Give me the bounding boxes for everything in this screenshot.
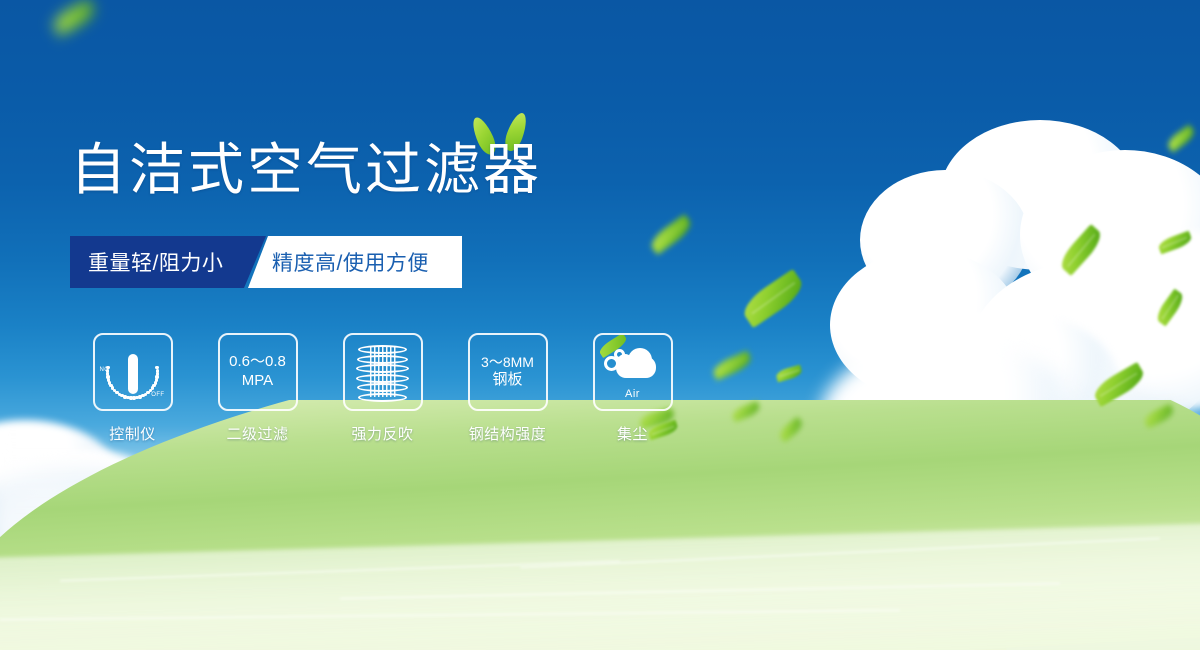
pressure-text-icon: 0.6〜0.8 MPA bbox=[218, 333, 298, 411]
steel-plate-text-icon: 3〜8MM 钢板 bbox=[468, 333, 548, 411]
page-title: 自洁式空气过滤器 bbox=[70, 142, 542, 198]
filter-coil-icon bbox=[343, 333, 423, 411]
air-cloud-icon: Air bbox=[593, 333, 673, 411]
feature-item-pressure[interactable]: 0.6〜0.8 MPA 二级过滤 bbox=[195, 333, 320, 444]
subtitle-bar: 重量轻/阻力小 精度高/使用方便 bbox=[70, 236, 462, 288]
gauge-label-off: OFF bbox=[151, 392, 164, 398]
feature-caption: 控制仪 bbox=[109, 423, 156, 444]
feature-caption: 二级过滤 bbox=[226, 423, 288, 444]
air-label: Air bbox=[602, 388, 664, 400]
subtitle-right: 精度高/使用方便 bbox=[248, 236, 462, 288]
feature-item-controller[interactable]: NO OFF 控制仪 bbox=[70, 333, 195, 444]
feature-item-dust[interactable]: Air 集尘 bbox=[570, 333, 695, 444]
feature-caption: 钢结构强度 bbox=[469, 423, 547, 444]
feature-caption: 集尘 bbox=[617, 423, 648, 444]
steel-thickness: 3〜8MM bbox=[481, 354, 534, 372]
feature-list: NO OFF 控制仪 0.6〜0.8 MPA 二级过滤 强力反吹 bbox=[70, 333, 695, 444]
pressure-unit: MPA bbox=[242, 372, 273, 391]
product-banner: 自洁式空气过滤器 重量轻/阻力小 精度高/使用方便 NO OFF 控制仪 0.6… bbox=[0, 0, 1200, 650]
cumulus-cloud-right bbox=[820, 110, 1200, 440]
pressure-range: 0.6〜0.8 bbox=[229, 353, 286, 372]
feature-item-steel[interactable]: 3〜8MM 钢板 钢结构强度 bbox=[445, 333, 570, 444]
gauge-dial-icon: NO OFF bbox=[93, 333, 173, 411]
feature-caption: 强力反吹 bbox=[351, 423, 413, 444]
feature-item-blowback[interactable]: 强力反吹 bbox=[320, 333, 445, 444]
steel-material: 钢板 bbox=[492, 371, 522, 390]
subtitle-left: 重量轻/阻力小 bbox=[70, 236, 266, 288]
